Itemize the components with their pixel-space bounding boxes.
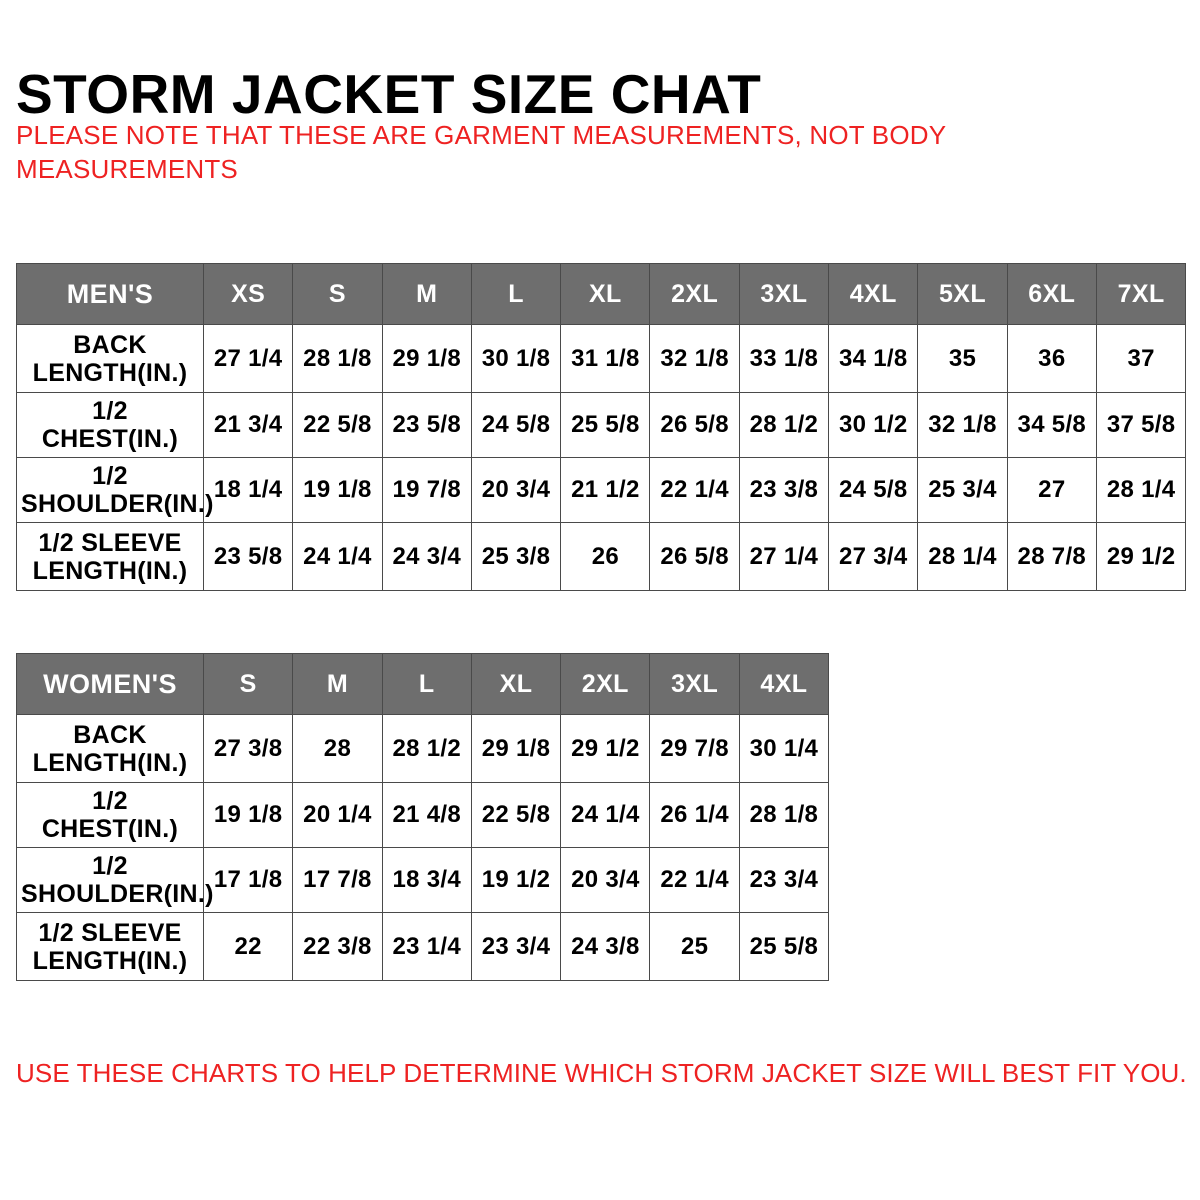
cell: 29 1/8 xyxy=(382,325,471,393)
table-row: 1/2 CHEST(IN.) 21 3/4 22 5/8 23 5/8 24 5… xyxy=(17,393,1186,458)
mens-size-header-l: L xyxy=(471,264,560,325)
mens-table-body: BACKLENGTH(IN.) 27 1/4 28 1/8 29 1/8 30 … xyxy=(17,325,1186,591)
row-label-line2: LENGTH(IN.) xyxy=(33,947,188,975)
cell: 28 1/2 xyxy=(739,393,828,458)
cell: 23 3/4 xyxy=(471,913,560,981)
womens-size-header-l: L xyxy=(382,654,471,715)
cell: 29 1/2 xyxy=(1096,523,1185,591)
cell: 28 7/8 xyxy=(1007,523,1096,591)
cell: 29 7/8 xyxy=(650,715,739,783)
cell: 28 xyxy=(293,715,382,783)
mens-category-header: MEN'S xyxy=(17,264,204,325)
cell: 26 1/4 xyxy=(650,783,739,848)
mens-size-header-6xl: 6XL xyxy=(1007,264,1096,325)
cell: 24 5/8 xyxy=(829,458,918,523)
womens-size-header-s: S xyxy=(204,654,293,715)
mens-row-label-half-sleeve: 1/2 SLEEVELENGTH(IN.) xyxy=(17,523,204,591)
row-label-line2: LENGTH(IN.) xyxy=(33,557,188,585)
mens-size-table: MEN'S XS S M L XL 2XL 3XL 4XL 5XL 6XL 7X… xyxy=(16,263,1186,591)
row-label-line2: LENGTH(IN.) xyxy=(33,359,188,387)
table-row: BACKLENGTH(IN.) 27 1/4 28 1/8 29 1/8 30 … xyxy=(17,325,1186,393)
cell: 24 1/4 xyxy=(293,523,382,591)
cell: 28 1/2 xyxy=(382,715,471,783)
cell: 22 5/8 xyxy=(471,783,560,848)
cell: 20 3/4 xyxy=(561,848,650,913)
cell: 22 1/4 xyxy=(650,848,739,913)
mens-size-header-3xl: 3XL xyxy=(739,264,828,325)
cell: 30 1/2 xyxy=(829,393,918,458)
cell: 30 1/8 xyxy=(471,325,560,393)
cell: 25 3/8 xyxy=(471,523,560,591)
womens-size-header-xl: XL xyxy=(471,654,560,715)
page-title: STORM JACKET SIZE CHAT xyxy=(16,63,761,125)
womens-size-table: WOMEN'S S M L XL 2XL 3XL 4XL BACKLENGTH(… xyxy=(16,653,829,981)
row-label-line1: BACK xyxy=(73,331,146,359)
cell: 22 xyxy=(204,913,293,981)
table-row: BACKLENGTH(IN.) 27 3/8 28 28 1/2 29 1/8 … xyxy=(17,715,829,783)
garment-measurement-note: PLEASE NOTE THAT THESE ARE GARMENT MEASU… xyxy=(16,118,976,186)
cell: 26 xyxy=(561,523,650,591)
cell: 23 5/8 xyxy=(204,523,293,591)
cell: 21 1/2 xyxy=(561,458,650,523)
mens-row-label-back-length: BACKLENGTH(IN.) xyxy=(17,325,204,393)
womens-table-body: BACKLENGTH(IN.) 27 3/8 28 28 1/2 29 1/8 … xyxy=(17,715,829,981)
mens-row-label-half-shoulder: 1/2 SHOULDER(IN.) xyxy=(17,458,204,523)
cell: 24 5/8 xyxy=(471,393,560,458)
womens-size-header-2xl: 2XL xyxy=(561,654,650,715)
cell: 27 xyxy=(1007,458,1096,523)
cell: 22 5/8 xyxy=(293,393,382,458)
cell: 35 xyxy=(918,325,1007,393)
cell: 32 1/8 xyxy=(650,325,739,393)
cell: 19 1/8 xyxy=(293,458,382,523)
cell: 32 1/8 xyxy=(918,393,1007,458)
womens-size-header-m: M xyxy=(293,654,382,715)
row-label-line1: BACK xyxy=(73,721,146,749)
cell: 17 1/8 xyxy=(204,848,293,913)
mens-size-header-4xl: 4XL xyxy=(829,264,918,325)
cell: 18 3/4 xyxy=(382,848,471,913)
size-chart-page: STORM JACKET SIZE CHAT PLEASE NOTE THAT … xyxy=(0,0,1200,1200)
cell: 34 1/8 xyxy=(829,325,918,393)
mens-size-header-2xl: 2XL xyxy=(650,264,739,325)
table-row: 1/2 SLEEVELENGTH(IN.) 23 5/8 24 1/4 24 3… xyxy=(17,523,1186,591)
cell: 27 3/8 xyxy=(204,715,293,783)
cell: 21 4/8 xyxy=(382,783,471,848)
table-row: 1/2 SLEEVELENGTH(IN.) 22 22 3/8 23 1/4 2… xyxy=(17,913,829,981)
cell: 34 5/8 xyxy=(1007,393,1096,458)
womens-row-label-back-length: BACKLENGTH(IN.) xyxy=(17,715,204,783)
womens-row-label-half-shoulder: 1/2 SHOULDER(IN.) xyxy=(17,848,204,913)
cell: 25 xyxy=(650,913,739,981)
mens-size-header-s: S xyxy=(293,264,382,325)
cell: 28 1/4 xyxy=(1096,458,1185,523)
womens-category-header: WOMEN'S xyxy=(17,654,204,715)
cell: 24 3/4 xyxy=(382,523,471,591)
cell: 27 1/4 xyxy=(739,523,828,591)
cell: 37 5/8 xyxy=(1096,393,1185,458)
cell: 22 3/8 xyxy=(293,913,382,981)
mens-table-head: MEN'S XS S M L XL 2XL 3XL 4XL 5XL 6XL 7X… xyxy=(17,264,1186,325)
row-label-line1: 1/2 SLEEVE xyxy=(38,919,181,947)
cell: 19 1/2 xyxy=(471,848,560,913)
cell: 25 3/4 xyxy=(918,458,1007,523)
mens-size-header-xs: XS xyxy=(204,264,293,325)
mens-size-header-xl: XL xyxy=(561,264,650,325)
cell: 23 3/4 xyxy=(739,848,828,913)
cell: 21 3/4 xyxy=(204,393,293,458)
womens-row-label-half-sleeve: 1/2 SLEEVELENGTH(IN.) xyxy=(17,913,204,981)
mens-row-label-half-chest: 1/2 CHEST(IN.) xyxy=(17,393,204,458)
cell: 26 5/8 xyxy=(650,393,739,458)
cell: 26 5/8 xyxy=(650,523,739,591)
table-row: 1/2 SHOULDER(IN.) 18 1/4 19 1/8 19 7/8 2… xyxy=(17,458,1186,523)
cell: 28 1/8 xyxy=(293,325,382,393)
cell: 18 1/4 xyxy=(204,458,293,523)
cell: 19 7/8 xyxy=(382,458,471,523)
cell: 31 1/8 xyxy=(561,325,650,393)
cell: 37 xyxy=(1096,325,1185,393)
womens-size-header-4xl: 4XL xyxy=(739,654,828,715)
cell: 24 1/4 xyxy=(561,783,650,848)
cell: 27 1/4 xyxy=(204,325,293,393)
cell: 29 1/8 xyxy=(471,715,560,783)
cell: 23 1/4 xyxy=(382,913,471,981)
cell: 22 1/4 xyxy=(650,458,739,523)
cell: 30 1/4 xyxy=(739,715,828,783)
cell: 28 1/4 xyxy=(918,523,1007,591)
womens-table-head: WOMEN'S S M L XL 2XL 3XL 4XL xyxy=(17,654,829,715)
cell: 25 5/8 xyxy=(739,913,828,981)
cell: 23 3/8 xyxy=(739,458,828,523)
cell: 19 1/8 xyxy=(204,783,293,848)
cell: 20 1/4 xyxy=(293,783,382,848)
mens-size-header-m: M xyxy=(382,264,471,325)
cell: 27 3/4 xyxy=(829,523,918,591)
cell: 29 1/2 xyxy=(561,715,650,783)
cell: 23 5/8 xyxy=(382,393,471,458)
cell: 24 3/8 xyxy=(561,913,650,981)
row-label-line2: LENGTH(IN.) xyxy=(33,749,188,777)
womens-header-row: WOMEN'S S M L XL 2XL 3XL 4XL xyxy=(17,654,829,715)
womens-row-label-half-chest: 1/2 CHEST(IN.) xyxy=(17,783,204,848)
cell: 33 1/8 xyxy=(739,325,828,393)
womens-size-header-3xl: 3XL xyxy=(650,654,739,715)
cell: 36 xyxy=(1007,325,1096,393)
cell: 25 5/8 xyxy=(561,393,650,458)
cell: 28 1/8 xyxy=(739,783,828,848)
cell: 17 7/8 xyxy=(293,848,382,913)
table-row: 1/2 CHEST(IN.) 19 1/8 20 1/4 21 4/8 22 5… xyxy=(17,783,829,848)
cell: 20 3/4 xyxy=(471,458,560,523)
fit-guidance-note: USE THESE CHARTS TO HELP DETERMINE WHICH… xyxy=(16,1057,1176,1089)
row-label-line1: 1/2 SLEEVE xyxy=(38,529,181,557)
mens-size-header-7xl: 7XL xyxy=(1096,264,1185,325)
mens-size-header-5xl: 5XL xyxy=(918,264,1007,325)
table-row: 1/2 SHOULDER(IN.) 17 1/8 17 7/8 18 3/4 1… xyxy=(17,848,829,913)
mens-header-row: MEN'S XS S M L XL 2XL 3XL 4XL 5XL 6XL 7X… xyxy=(17,264,1186,325)
